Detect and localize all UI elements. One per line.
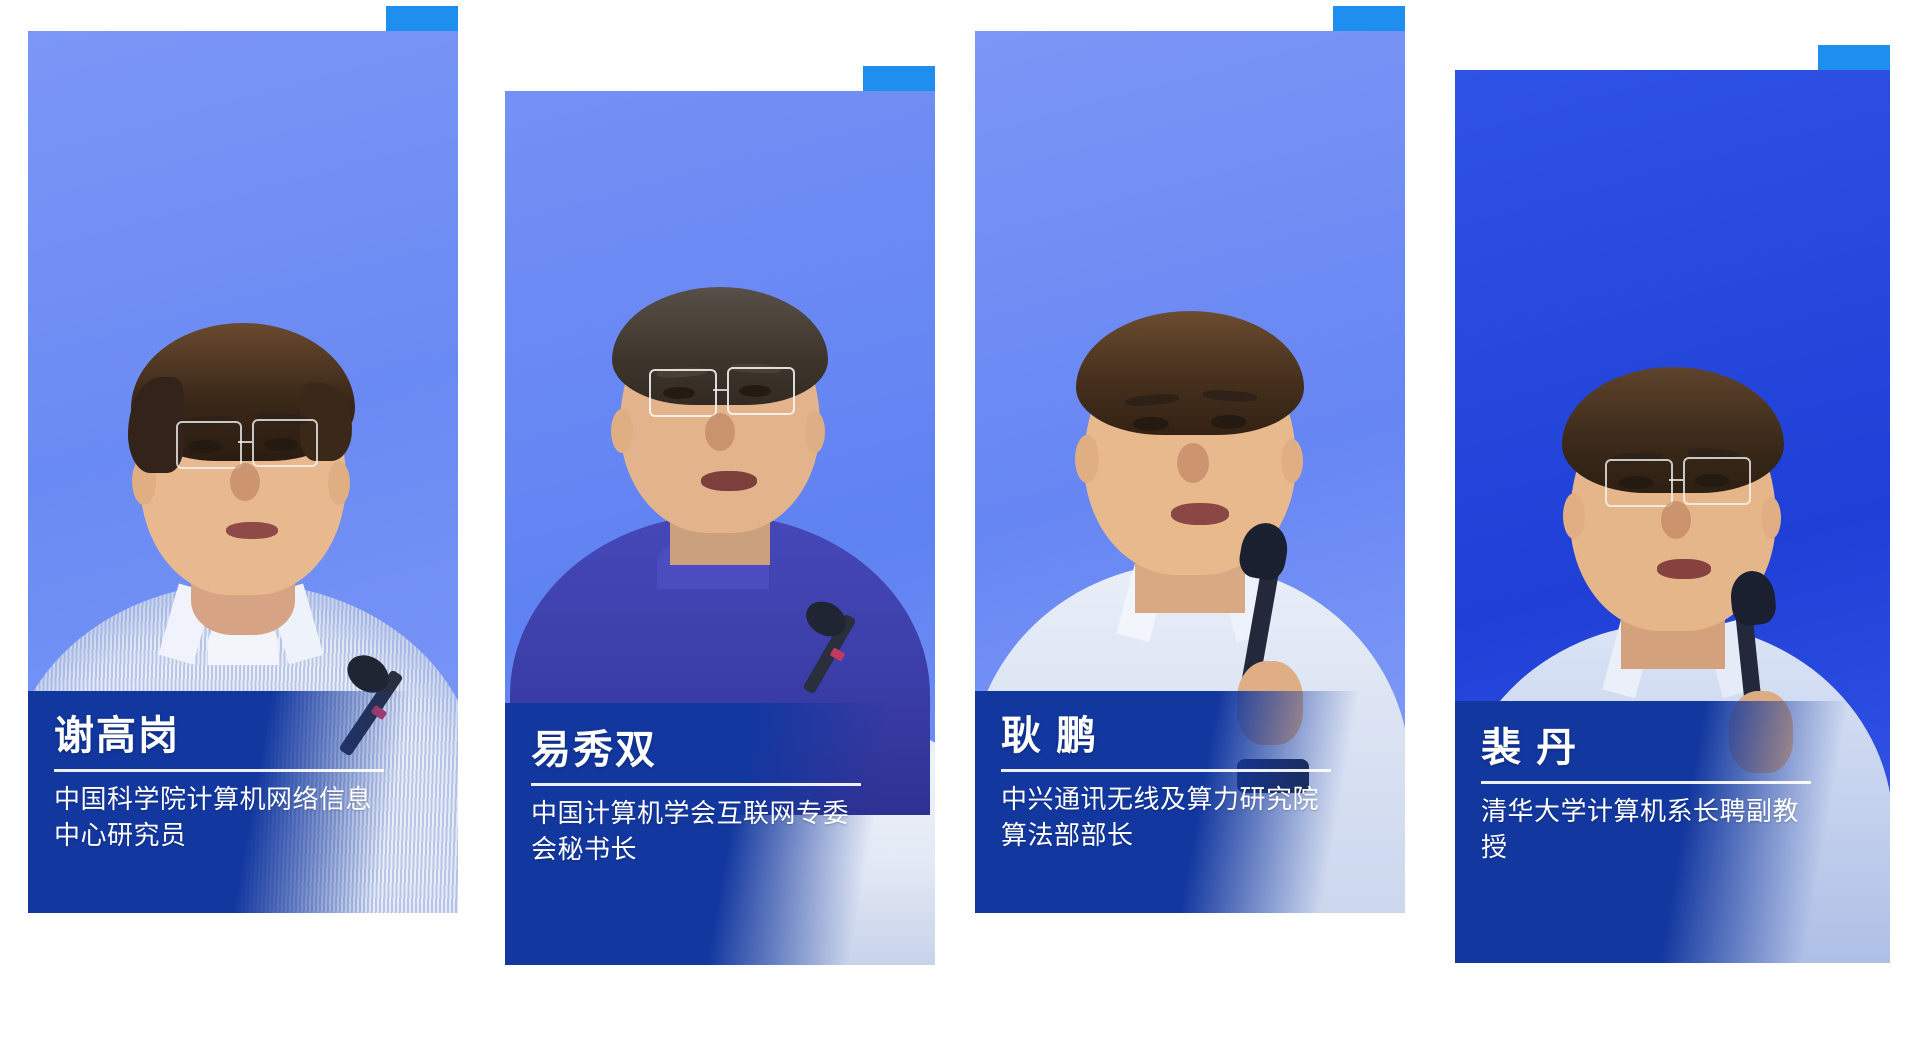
speaker-role-4: 清华大学计算机系长聘副教授 [1481,794,1811,866]
speaker-name-3: 耿 鹏 [1001,715,1379,757]
speaker-name-1: 谢高岗 [54,715,432,757]
speaker-role-2: 中国计算机学会互联网专委会秘书长 [531,796,861,868]
speaker-card-gallery: 谢高岗 中国科学院计算机网络信息中心研究员 [0,0,1920,1063]
speaker-role-1: 中国科学院计算机网络信息中心研究员 [54,782,384,854]
speaker-name-2: 易秀双 [531,729,909,771]
caption-divider-3 [1001,769,1331,772]
speaker-caption-3: 耿 鹏 中兴通讯无线及算力研究院算法部部长 [975,691,1405,913]
speaker-caption-1: 谢高岗 中国科学院计算机网络信息中心研究员 [28,691,458,913]
caption-divider-2 [531,783,861,786]
speaker-name-4: 裴 丹 [1481,727,1864,769]
speaker-card-4[interactable]: 裴 丹 清华大学计算机系长聘副教授 [1455,70,1890,963]
speaker-role-3: 中兴通讯无线及算力研究院算法部部长 [1001,782,1331,854]
eyeglasses-2 [649,369,717,417]
speaker-caption-2: 易秀双 中国计算机学会互联网专委会秘书长 [505,703,935,965]
caption-divider-1 [54,769,384,772]
eyeglasses-1 [176,421,242,469]
caption-divider-4 [1481,781,1811,784]
speaker-card-3[interactable]: 耿 鹏 中兴通讯无线及算力研究院算法部部长 [975,31,1405,913]
speaker-card-2[interactable]: 易秀双 中国计算机学会互联网专委会秘书长 [505,91,935,965]
speaker-card-1[interactable]: 谢高岗 中国科学院计算机网络信息中心研究员 [28,31,458,913]
eyeglasses-4 [1605,459,1673,507]
speaker-caption-4: 裴 丹 清华大学计算机系长聘副教授 [1455,701,1890,963]
